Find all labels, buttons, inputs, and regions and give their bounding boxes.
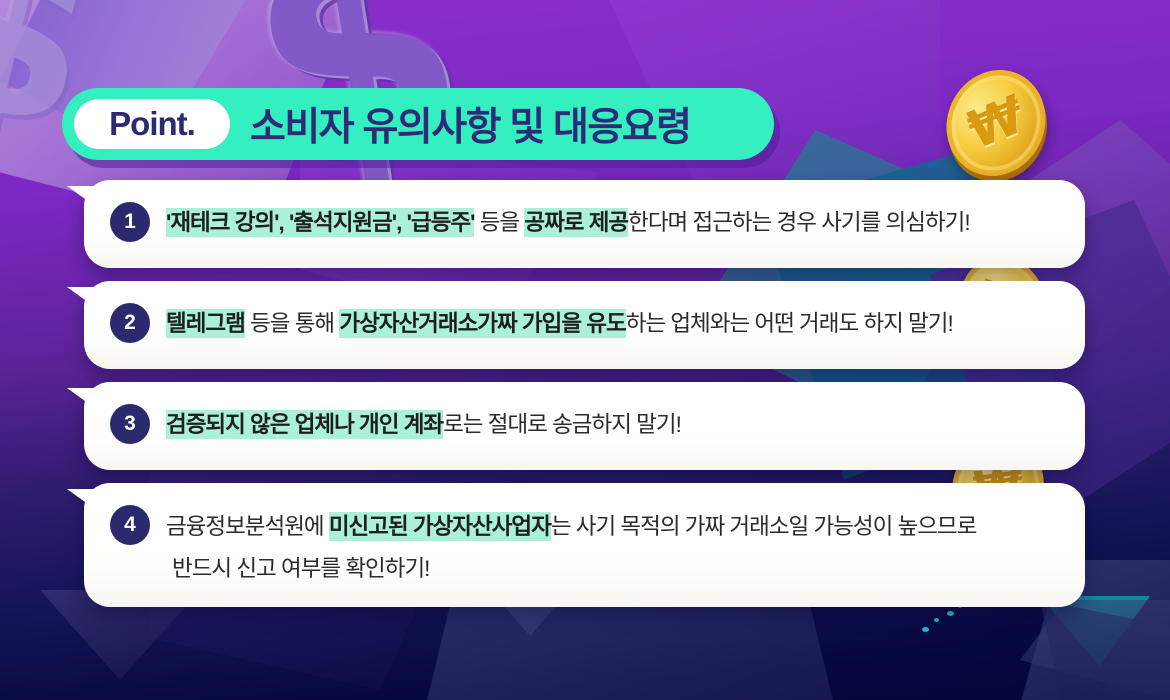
point-badge-label: Point. <box>109 105 195 143</box>
accent-dot-1 <box>922 627 929 632</box>
page-title: 소비자 유의사항 및 대응요령 <box>250 96 691 152</box>
tip-card-2: 2 텔레그램 등을 통해 가상자산거래소가짜 가입을 유도하는 업체와는 어떤 … <box>84 281 1085 369</box>
infographic-stage: $ $ ₩ ₩ ₩ Point. 소비자 유의사항 및 대응요령 1 '재테크 … <box>0 0 1170 700</box>
tip-segment-plain: 는 사기 목적의 가짜 거래소일 가능성이 높으므로 <box>551 514 977 539</box>
tip-segment-plain: 로는 절대로 송금하지 말기! <box>443 412 681 437</box>
tip-number-badge: 2 <box>110 303 150 343</box>
tip-segment-highlight: 미신고된 가상자산사업자 <box>329 512 551 541</box>
card-tail-icon <box>67 388 101 422</box>
tip-number-badge: 3 <box>110 404 150 444</box>
tip-segment-plain-line2: 반드시 신고 여부를 확인하기! <box>166 548 1059 590</box>
tip-segment-highlight: '재테크 강의', '출석지원금', '급등주' <box>166 208 474 237</box>
tip-segment-plain: 금융정보분석원에 <box>166 514 329 539</box>
tip-segment-plain: 하는 업체와는 어떤 거래도 하지 말기! <box>626 311 953 336</box>
card-tail-icon <box>67 287 101 321</box>
card-tail-icon <box>67 489 101 523</box>
tip-card-1: 1 '재테크 강의', '출석지원금', '급등주' 등을 공짜로 제공한다며 … <box>84 180 1085 268</box>
tip-card-4: 4 금융정보분석원에 미신고된 가상자산사업자는 사기 목적의 가짜 거래소일 … <box>84 483 1085 607</box>
tip-segment-highlight: 검증되지 않은 업체나 개인 계좌 <box>166 410 443 439</box>
tip-segment-plain: 등을 <box>474 210 524 235</box>
tip-segment-highlight: 텔레그램 <box>166 309 245 338</box>
tip-segment-plain: 한다며 접근하는 경우 사기를 의심하기! <box>628 210 969 235</box>
tip-text-1: '재테크 강의', '출석지원금', '급등주' 등을 공짜로 제공한다며 접근… <box>166 202 1059 243</box>
header-banner: Point. 소비자 유의사항 및 대응요령 <box>62 88 774 160</box>
card-tail-icon <box>67 186 101 220</box>
tip-segment-highlight: 공짜로 제공 <box>524 208 628 237</box>
tip-card-3: 3 검증되지 않은 업체나 개인 계좌로는 절대로 송금하지 말기! <box>84 382 1085 470</box>
tip-card-list: 1 '재테크 강의', '출석지원금', '급등주' 등을 공짜로 제공한다며 … <box>84 180 1085 620</box>
tip-text-3: 검증되지 않은 업체나 개인 계좌로는 절대로 송금하지 말기! <box>166 404 1059 445</box>
tip-segment-plain: 등을 통해 <box>245 311 340 336</box>
tip-text-2: 텔레그램 등을 통해 가상자산거래소가짜 가입을 유도하는 업체와는 어떤 거래… <box>166 303 1059 344</box>
tip-text-4: 금융정보분석원에 미신고된 가상자산사업자는 사기 목적의 가짜 거래소일 가능… <box>166 505 1059 590</box>
won-symbol: ₩ <box>962 85 1029 162</box>
tip-number-badge: 1 <box>110 202 150 242</box>
point-badge: Point. <box>74 99 230 149</box>
tip-number-badge: 4 <box>110 505 150 545</box>
tip-segment-highlight: 가상자산거래소가짜 가입을 유도 <box>339 309 625 338</box>
